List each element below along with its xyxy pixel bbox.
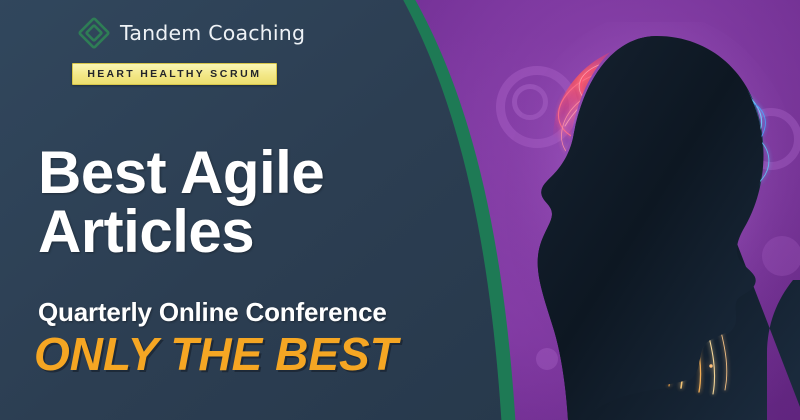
tagline-emphasis: SCRUM bbox=[210, 68, 262, 80]
kicker-text: ONLY THE BEST bbox=[34, 327, 398, 381]
tagline-prefix: HEART HEALTHY bbox=[87, 68, 210, 80]
tagline-badge: HEART HEALTHY SCRUM bbox=[72, 63, 277, 85]
brand-logo[interactable]: Tandem Coaching bbox=[78, 17, 305, 49]
subtitle: Quarterly Online Conference bbox=[38, 297, 387, 328]
diamond-outline-icon bbox=[78, 17, 110, 49]
brand-name: Tandem Coaching bbox=[120, 21, 305, 45]
page-title: Best Agile Articles bbox=[38, 143, 324, 262]
headline-line-1: Best Agile bbox=[38, 139, 324, 206]
headline-line-2: Articles bbox=[38, 202, 324, 261]
tagline-text: HEART HEALTHY SCRUM bbox=[87, 68, 261, 80]
best-agile-articles-banner: Tandem Coaching HEART HEALTHY SCRUM Best… bbox=[0, 0, 800, 420]
content-column: Tandem Coaching HEART HEALTHY SCRUM Best… bbox=[0, 0, 470, 420]
